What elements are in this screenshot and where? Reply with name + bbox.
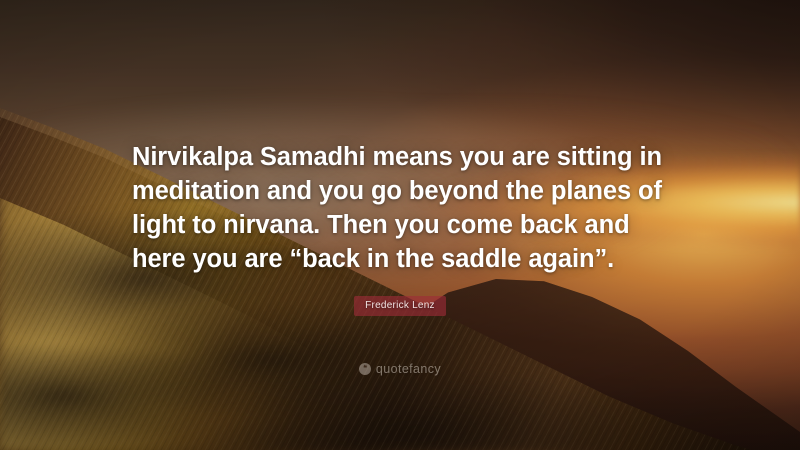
quote-badge-icon: ❝	[359, 363, 371, 375]
watermark: ❝ quotefancy	[0, 362, 800, 376]
quote-poster: Nirvikalpa Samadhi means you are sitting…	[0, 0, 800, 450]
quote-badge-glyph: ❝	[363, 365, 366, 372]
author-name-badge: Frederick Lenz	[354, 296, 446, 316]
author-attribution: Frederick Lenz	[132, 296, 668, 316]
quote-text: Nirvikalpa Samadhi means you are sitting…	[132, 140, 668, 276]
watermark-label: quotefancy	[376, 362, 441, 376]
quote-content: Nirvikalpa Samadhi means you are sitting…	[0, 0, 800, 450]
